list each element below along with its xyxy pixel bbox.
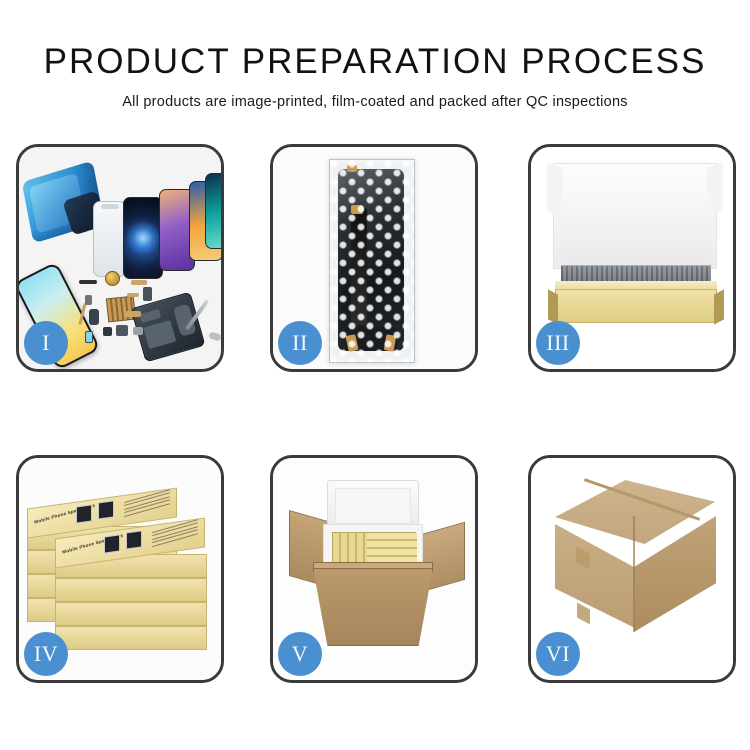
retail-box-icon bbox=[55, 602, 207, 626]
carton-edge-icon bbox=[633, 516, 635, 632]
part-icon bbox=[131, 280, 147, 285]
speaker-part-icon bbox=[105, 271, 120, 286]
phone-teal-icon bbox=[205, 173, 221, 249]
box-spec-lines bbox=[124, 492, 170, 518]
part-icon bbox=[143, 287, 152, 301]
process-step-card-1: I bbox=[16, 144, 224, 372]
process-step-card-3: III bbox=[528, 144, 736, 372]
process-step-card-4: Mobile Phone Spare Parts Mobi bbox=[16, 455, 224, 683]
tweezers-icon bbox=[208, 331, 221, 341]
step-badge-5: V bbox=[278, 632, 322, 676]
tape-patch-icon bbox=[577, 603, 590, 625]
header: PRODUCT PREPARATION PROCESS All products… bbox=[0, 42, 750, 111]
part-icon bbox=[85, 295, 92, 305]
part-icon bbox=[133, 327, 143, 335]
part-icon bbox=[89, 309, 99, 325]
screen-thumbnail-icon bbox=[104, 534, 120, 553]
screen-thumbnail-icon bbox=[126, 530, 142, 549]
step-badge-2: II bbox=[278, 321, 322, 365]
screen-thumbnail-icon bbox=[76, 504, 92, 523]
part-icon bbox=[79, 280, 97, 284]
part-icon bbox=[125, 311, 141, 317]
process-step-card-2: II bbox=[270, 144, 478, 372]
phone-screen-blue-icon bbox=[123, 197, 163, 279]
retail-box-icon bbox=[55, 578, 207, 602]
process-row-1: I II bbox=[16, 144, 734, 372]
step-badge-6: VI bbox=[536, 632, 580, 676]
process-row-2: Mobile Phone Spare Parts Mobi bbox=[16, 455, 734, 683]
bag-edge bbox=[329, 159, 415, 363]
part-icon bbox=[85, 331, 93, 343]
process-step-card-5: V bbox=[270, 455, 478, 683]
part-icon bbox=[103, 327, 112, 336]
part-icon bbox=[127, 293, 139, 297]
carton-body-icon bbox=[313, 568, 433, 646]
page-title: PRODUCT PREPARATION PROCESS bbox=[0, 42, 750, 82]
process-step-card-6: VI bbox=[528, 455, 736, 683]
part-icon bbox=[116, 325, 128, 336]
retail-box-icon bbox=[55, 626, 207, 650]
step-badge-3: III bbox=[536, 321, 580, 365]
screen-thumbnail-icon bbox=[98, 500, 114, 519]
page-subtitle: All products are image-printed, film-coa… bbox=[0, 93, 750, 111]
carton-left-face-icon bbox=[555, 524, 635, 628]
inner-foam-icon bbox=[561, 195, 711, 271]
step-badge-4: IV bbox=[24, 632, 68, 676]
carton-front-icon bbox=[555, 289, 717, 323]
box-spec-lines bbox=[152, 522, 198, 548]
product-preparation-infographic: PRODUCT PREPARATION PROCESS All products… bbox=[0, 0, 750, 750]
bubble-wrap-bag-icon bbox=[329, 159, 415, 363]
step-badge-1: I bbox=[24, 321, 68, 365]
tempered-glass-icon bbox=[93, 201, 126, 277]
